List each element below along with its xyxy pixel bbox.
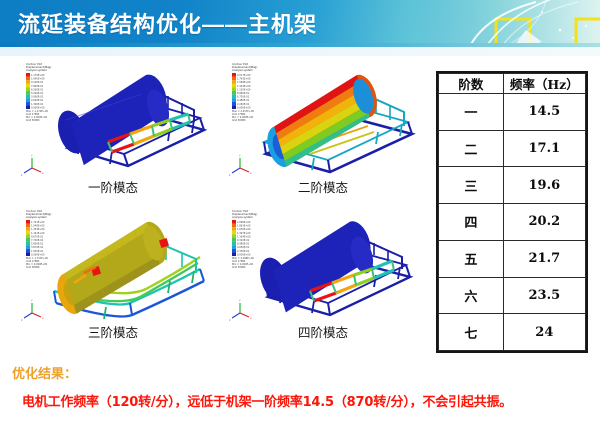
svg-text:9.670E-01: 9.670E-01	[31, 235, 44, 238]
table-header-row: 阶数 频率（Hz）	[439, 74, 586, 94]
svg-text:8.960E-01: 8.960E-01	[237, 92, 250, 95]
cell-order: 四	[439, 204, 504, 241]
cell-frequency: 14.5	[503, 94, 585, 131]
slide: 流延装备结构优化——主机架 Contour Plot Displacement(…	[0, 0, 600, 421]
svg-text:Grid 38080: Grid 38080	[26, 119, 40, 122]
svg-text:0.000E+00: 0.000E+00	[31, 106, 45, 109]
svg-text:9.310E-01: 9.310E-01	[237, 239, 250, 242]
svg-text:Analysis system: Analysis system	[232, 215, 253, 219]
svg-text:Analysis system: Analysis system	[232, 68, 253, 72]
svg-text:6.980E-01: 6.980E-01	[237, 243, 250, 246]
table-row: 二 17.1	[439, 130, 586, 167]
svg-text:3.870E-01: 3.870E-01	[31, 246, 44, 249]
table-row: 一 14.5	[439, 94, 586, 131]
svg-text:Analysis system: Analysis system	[26, 68, 47, 72]
cell-frequency: 20.2	[503, 204, 585, 241]
svg-text:1.863E+00: 1.863E+00	[237, 225, 251, 228]
svg-text:Grid 38080: Grid 38080	[232, 119, 246, 122]
cell-frequency: 21.7	[503, 240, 585, 277]
contour-legend-mode-4: Contour Plot Displacement(Mag) Analysis …	[232, 209, 257, 269]
svg-text:y: y	[239, 298, 241, 302]
svg-text:0.000E+00: 0.000E+00	[237, 253, 251, 256]
svg-text:6.500E-01: 6.500E-01	[31, 88, 44, 91]
svg-text:7.800E-01: 7.800E-01	[31, 85, 44, 88]
table-row: 五 21.7	[439, 240, 586, 277]
svg-text:0.000E+00: 0.000E+00	[237, 106, 251, 109]
svg-text:2.096E+00: 2.096E+00	[237, 221, 251, 224]
table-row: 三 19.6	[439, 167, 586, 204]
svg-text:x: x	[250, 316, 252, 320]
column-header-frequency: 频率（Hz）	[503, 74, 585, 94]
svg-text:1.548E+00: 1.548E+00	[31, 225, 45, 228]
svg-text:3.900E-01: 3.900E-01	[31, 96, 44, 99]
svg-text:x: x	[42, 171, 44, 175]
figure-mode-3[interactable]: Contour Plot Displacement(Mag) Analysis …	[8, 201, 218, 349]
axis-triad-mode-3: y x z	[21, 298, 44, 322]
svg-text:y: y	[239, 153, 241, 157]
fea-render-mode-4: Contour Plot Displacement(Mag) Analysis …	[218, 201, 428, 323]
figure-label-mode-1: 一阶模态	[8, 177, 218, 196]
table-row: 四 20.2	[439, 204, 586, 241]
slide-header: 流延装备结构优化——主机架	[0, 0, 600, 47]
svg-text:0.000E+00: 0.000E+00	[31, 253, 45, 256]
svg-text:2.240E-01: 2.240E-01	[237, 103, 250, 106]
table-row: 七 24	[439, 314, 586, 351]
frame-geometry-mode-4	[255, 218, 410, 315]
svg-text:2.017E+00: 2.017E+00	[237, 74, 251, 77]
svg-text:1.344E+00: 1.344E+00	[237, 85, 251, 88]
conclusion-label: 优化结果：	[12, 363, 77, 382]
svg-text:x: x	[42, 316, 44, 320]
cell-order: 七	[439, 314, 504, 351]
cell-frequency: 19.6	[503, 167, 585, 204]
svg-text:1.793E+00: 1.793E+00	[237, 78, 251, 81]
cell-frequency: 23.5	[503, 277, 585, 314]
contour-legend-mode-1: Contour Plot Displacement(Mag) Analysis …	[26, 62, 51, 122]
column-header-order: 阶数	[439, 74, 504, 94]
table-row: 六 23.5	[439, 277, 586, 314]
svg-text:1.630E+00: 1.630E+00	[237, 228, 251, 231]
svg-text:1.354E+00: 1.354E+00	[31, 228, 45, 231]
cell-order: 二	[439, 130, 504, 167]
svg-text:x: x	[250, 171, 252, 175]
cell-frequency: 24	[503, 314, 585, 351]
header-underglow	[0, 47, 600, 56]
page-title: 流延装备结构优化——主机架	[18, 7, 317, 39]
svg-text:1.120E+00: 1.120E+00	[237, 88, 251, 91]
svg-text:y: y	[31, 298, 33, 302]
svg-text:4.650E-01: 4.650E-01	[237, 246, 250, 249]
svg-text:Grid 38080: Grid 38080	[26, 266, 40, 269]
contour-legend-mode-3: Contour Plot Displacement(Mag) Analysis …	[26, 209, 51, 269]
header-decoration-icon	[410, 0, 600, 47]
cell-order: 六	[439, 277, 504, 314]
axis-triad-mode-4: y x z	[229, 298, 252, 322]
svg-text:1.397E+00: 1.397E+00	[237, 232, 251, 235]
svg-text:2.600E-01: 2.600E-01	[31, 99, 44, 102]
svg-text:1.930E-01: 1.930E-01	[31, 250, 44, 253]
figure-label-mode-2: 二阶模态	[218, 177, 428, 196]
fea-render-mode-1: Contour Plot Displacement(Mag) Analysis …	[8, 56, 218, 178]
svg-text:2.330E-01: 2.330E-01	[237, 250, 250, 253]
frequency-table: 阶数 频率（Hz） 一 14.5 二 17.1 三 19.6 四	[436, 71, 588, 353]
svg-text:1.741E+00: 1.741E+00	[31, 221, 45, 224]
cell-order: 三	[439, 167, 504, 204]
svg-text:5.800E-01: 5.800E-01	[31, 243, 44, 246]
conclusion-text: 电机工作频率（120转/分），远低于机架一阶频率14.5（870转/分），不会引…	[22, 391, 512, 410]
svg-text:1.164E+00: 1.164E+00	[237, 235, 251, 238]
figure-label-mode-4: 四阶模态	[218, 322, 428, 341]
svg-text:4.480E-01: 4.480E-01	[237, 99, 250, 102]
svg-text:1.300E-01: 1.300E-01	[31, 103, 44, 106]
fea-render-mode-2: Contour Plot Displacement(Mag) Analysis …	[218, 56, 428, 178]
contour-legend-mode-2: Contour Plot Displacement(Mag) Analysis …	[232, 62, 257, 122]
frame-geometry-mode-1	[53, 71, 204, 166]
svg-text:Analysis system: Analysis system	[26, 215, 47, 219]
figure-mode-4[interactable]: Contour Plot Displacement(Mag) Analysis …	[218, 201, 428, 349]
svg-text:9.100E-01: 9.100E-01	[31, 81, 44, 84]
axis-triad-mode-1: y x z	[21, 153, 44, 177]
svg-text:1.040E+00: 1.040E+00	[31, 78, 45, 81]
svg-text:y: y	[31, 153, 33, 157]
svg-text:1.161E+00: 1.161E+00	[31, 232, 45, 235]
cell-frequency: 17.1	[503, 130, 585, 167]
svg-text:1.568E+00: 1.568E+00	[237, 81, 251, 84]
cell-order: 一	[439, 94, 504, 131]
figure-mode-1[interactable]: Contour Plot Displacement(Mag) Analysis …	[8, 56, 218, 204]
svg-text:1.170E+00: 1.170E+00	[31, 74, 45, 77]
figure-label-mode-3: 三阶模态	[8, 322, 218, 341]
svg-text:Grid 38080: Grid 38080	[232, 266, 246, 269]
cell-order: 五	[439, 240, 504, 277]
svg-text:5.200E-01: 5.200E-01	[31, 92, 44, 95]
svg-text:7.740E-01: 7.740E-01	[31, 239, 44, 242]
fea-render-mode-3: Contour Plot Displacement(Mag) Analysis …	[8, 201, 218, 323]
svg-text:6.720E-01: 6.720E-01	[237, 96, 250, 99]
figure-mode-2[interactable]: Contour Plot Displacement(Mag) Analysis …	[218, 56, 428, 204]
mode-shape-gallery: Contour Plot Displacement(Mag) Analysis …	[6, 56, 426, 356]
axis-triad-mode-2: y x z	[229, 153, 252, 177]
